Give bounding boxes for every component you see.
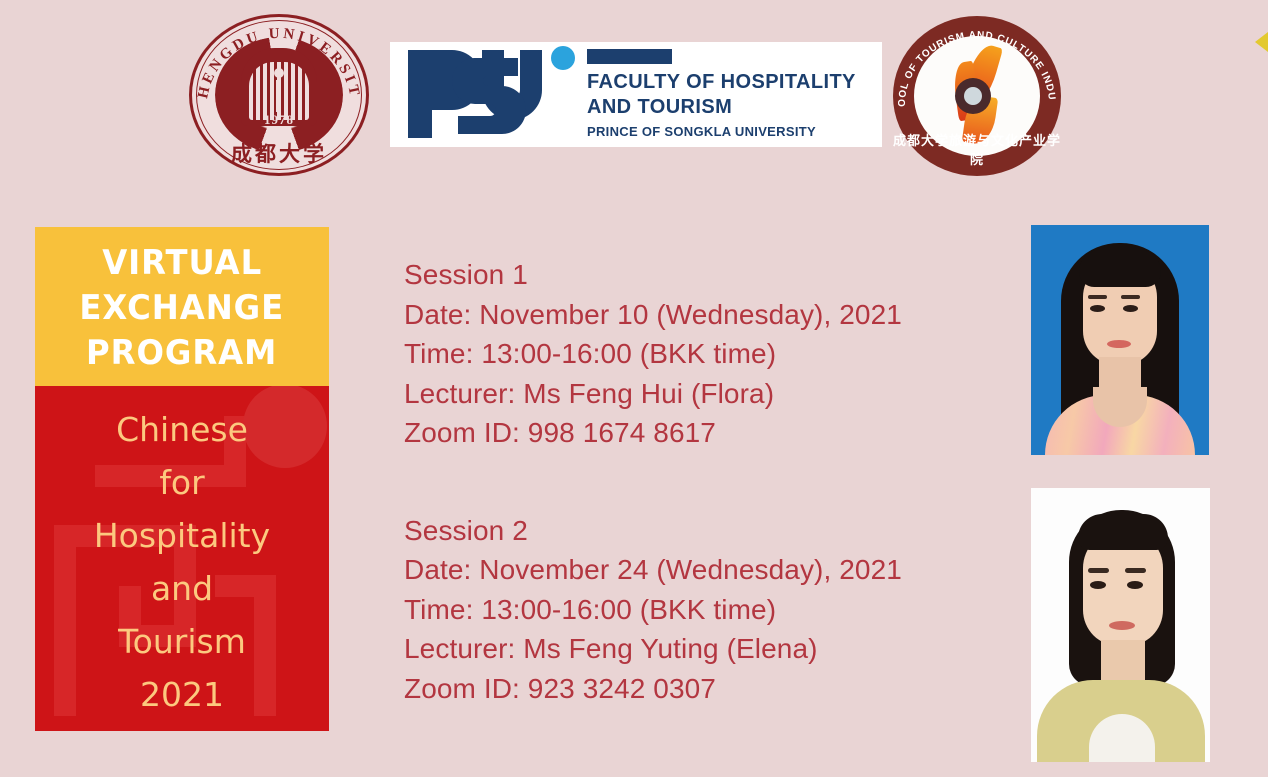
portrait-2-fringe xyxy=(1078,514,1168,550)
psu-line-2: AND TOURISM xyxy=(587,95,877,120)
seal-figure-body xyxy=(276,80,281,112)
poster-title-line-1: VIRTUAL xyxy=(102,241,262,286)
seal-chinese-name: 成都大学 xyxy=(189,138,369,168)
psu-wordmark-icon xyxy=(400,44,570,144)
session-1-date: Date: November 10 (Wednesday), 2021 xyxy=(404,295,1004,335)
program-poster: VIRTUAL EXCHANGE PROGRAM Chinese for Hos… xyxy=(35,227,329,731)
portrait-1-eye-right xyxy=(1123,305,1138,312)
portrait-2-brow-right xyxy=(1125,568,1146,573)
portrait-1-eye-left xyxy=(1090,305,1105,312)
session-block-1: Session 1 Date: November 10 (Wednesday),… xyxy=(404,255,1004,453)
poster-subtitle-line-4: and xyxy=(151,562,213,615)
poster-subtitle-block: Chinese for Hospitality and Tourism 2021 xyxy=(35,386,329,731)
psu-accent-bar-icon xyxy=(587,49,672,64)
psu-accent-dot-icon xyxy=(551,46,575,70)
poster-subtitle-line-1: Chinese xyxy=(116,403,248,456)
portrait-2-eye-left xyxy=(1090,581,1106,589)
session-2-date: Date: November 24 (Wednesday), 2021 xyxy=(404,550,1004,590)
poster-subtitle-line-5: Tourism xyxy=(118,615,246,668)
session-spacer xyxy=(404,453,1004,511)
psu-faculty-logo: FACULTY OF HOSPITALITY AND TOURISM PRINC… xyxy=(390,42,882,147)
session-1-lecturer: Lecturer: Ms Feng Hui (Flora) xyxy=(404,374,1004,414)
portrait-1-brow-left xyxy=(1088,295,1107,299)
portrait-1-mouth xyxy=(1107,340,1131,348)
session-details: Session 1 Date: November 10 (Wednesday),… xyxy=(404,255,1004,708)
psu-line-3: PRINCE OF SONGKLA UNIVERSITY xyxy=(587,124,877,139)
psu-line-1: FACULTY OF HOSPITALITY xyxy=(587,70,877,95)
portrait-2-eye-right xyxy=(1127,581,1143,589)
seal-year: 1978 xyxy=(189,112,369,128)
lecturer-photo-2 xyxy=(1031,488,1210,762)
poster-subtitle-line-3: Hospitality xyxy=(94,509,270,562)
school-of-tourism-and-culture-industry-seal: SCHOOL OF TOURISM AND CULTURE INDUSTRY 成… xyxy=(893,16,1061,176)
session-2-lecturer: Lecturer: Ms Feng Yuting (Elena) xyxy=(404,629,1004,669)
portrait-1-brow-right xyxy=(1121,295,1140,299)
poster-title-line-2: EXCHANGE xyxy=(80,286,285,331)
poster-top-banner: VIRTUAL EXCHANGE PROGRAM xyxy=(35,227,329,386)
slide-canvas: CHENGDU UNIVERSITY 1978 成都大学 xyxy=(0,0,1268,777)
poster-subtitle-line-2: for xyxy=(159,456,204,509)
edge-arrow-icon xyxy=(1255,32,1268,52)
portrait-2-neck xyxy=(1101,640,1145,684)
session-2-zoom-id: Zoom ID: 923 3242 0307 xyxy=(404,669,1004,709)
chengdu-university-seal: CHENGDU UNIVERSITY 1978 成都大学 xyxy=(189,14,369,176)
portrait-1-fringe xyxy=(1079,249,1161,287)
lecturer-photo-1 xyxy=(1031,225,1209,455)
stc-center-emblem xyxy=(955,78,991,114)
stc-chinese-name: 成都大学旅游与文化产业学院 xyxy=(893,130,1061,168)
poster-bottom-panel: Chinese for Hospitality and Tourism 2021 xyxy=(35,386,329,731)
logo-row: CHENGDU UNIVERSITY 1978 成都大学 xyxy=(0,0,1268,190)
psu-text-block: FACULTY OF HOSPITALITY AND TOURISM PRINC… xyxy=(587,70,877,139)
session-2-title: Session 2 xyxy=(404,511,1004,551)
seal-figure-head xyxy=(274,68,284,78)
session-1-time: Time: 13:00-16:00 (BKK time) xyxy=(404,334,1004,374)
portrait-2-mouth xyxy=(1109,621,1135,630)
session-1-zoom-id: Zoom ID: 998 1674 8617 xyxy=(404,413,1004,453)
session-1-title: Session 1 xyxy=(404,255,1004,295)
poster-subtitle-line-6: 2021 xyxy=(140,668,224,721)
session-block-2: Session 2 Date: November 24 (Wednesday),… xyxy=(404,511,1004,709)
portrait-2-brow-left xyxy=(1088,568,1109,573)
session-2-time: Time: 13:00-16:00 (BKK time) xyxy=(404,590,1004,630)
poster-title-line-3: PROGRAM xyxy=(86,331,277,376)
